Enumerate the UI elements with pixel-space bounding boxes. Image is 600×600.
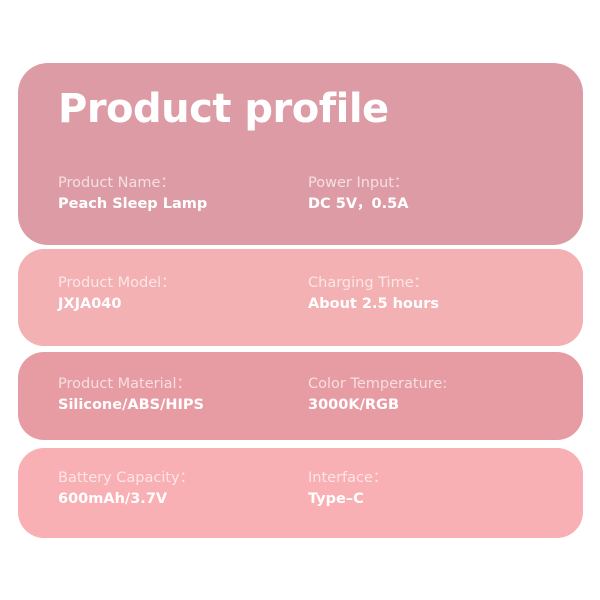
spec-field-charging-time: Charging Time： About 2.5 hours	[308, 273, 583, 315]
spec-field-product-model: Product Model： JXJA040	[18, 273, 308, 315]
spec-field-interface: Interface： Type–C	[308, 468, 583, 510]
spec-row: Battery Capacity： 600mAh/3.7V Interface：…	[18, 468, 583, 510]
spec-card-name-power: Product profile Product Name： Peach Slee…	[18, 63, 583, 245]
spec-value: Silicone/ABS/HIPS	[58, 395, 308, 416]
spec-label: Product Name：	[58, 173, 308, 194]
spec-card-material-colortemp: Product Material： Silicone/ABS/HIPS Colo…	[18, 352, 583, 440]
spec-value: 3000K/RGB	[308, 395, 583, 416]
spec-field-power-input: Power Input： DC 5V，0.5A	[308, 173, 583, 215]
spec-label: Battery Capacity：	[58, 468, 308, 489]
spec-label: Charging Time：	[308, 273, 583, 294]
spec-card-model-charging: Product Model： JXJA040 Charging Time： Ab…	[18, 249, 583, 346]
spec-field-color-temperature: Color Temperature: 3000K/RGB	[308, 374, 583, 416]
spec-field-product-name: Product Name： Peach Sleep Lamp	[18, 173, 308, 215]
spec-label: Color Temperature:	[308, 374, 583, 395]
page-title: Product profile	[58, 89, 389, 129]
spec-field-battery-capacity: Battery Capacity： 600mAh/3.7V	[18, 468, 308, 510]
spec-value: Type–C	[308, 489, 583, 510]
spec-card-battery-interface: Battery Capacity： 600mAh/3.7V Interface：…	[18, 448, 583, 538]
spec-value: 600mAh/3.7V	[58, 489, 308, 510]
spec-row: Product Material： Silicone/ABS/HIPS Colo…	[18, 374, 583, 416]
spec-value: Peach Sleep Lamp	[58, 194, 308, 215]
spec-value: About 2.5 hours	[308, 294, 583, 315]
spec-label: Product Material：	[58, 374, 308, 395]
spec-value: DC 5V，0.5A	[308, 194, 583, 215]
spec-label: Power Input：	[308, 173, 583, 194]
spec-row: Product Name： Peach Sleep Lamp Power Inp…	[18, 173, 583, 215]
spec-row: Product Model： JXJA040 Charging Time： Ab…	[18, 273, 583, 315]
spec-label: Product Model：	[58, 273, 308, 294]
spec-field-product-material: Product Material： Silicone/ABS/HIPS	[18, 374, 308, 416]
spec-label: Interface：	[308, 468, 583, 489]
product-profile-sheet: Product profile Product Name： Peach Slee…	[0, 0, 600, 600]
spec-value: JXJA040	[58, 294, 308, 315]
